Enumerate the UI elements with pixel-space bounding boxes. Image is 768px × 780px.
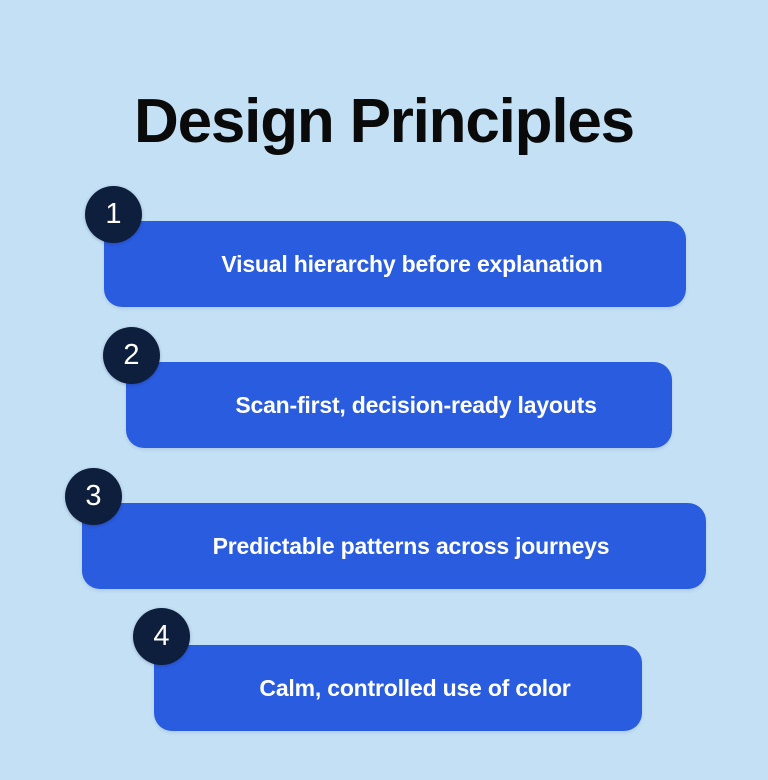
principle-number-badge-3: 3 — [65, 468, 122, 525]
design-principles-poster: Design Principles Visual hierarchy befor… — [0, 0, 768, 780]
principle-number-badge-4: 4 — [133, 608, 190, 665]
principle-label-3: Predictable patterns across journeys — [82, 503, 706, 589]
principle-label-4: Calm, controlled use of color — [154, 645, 642, 731]
principle-label-2: Scan-first, decision-ready layouts — [126, 362, 672, 448]
principle-label-1: Visual hierarchy before explanation — [104, 221, 686, 307]
principle-bar-3[interactable]: Predictable patterns across journeys — [82, 503, 706, 589]
principles-list: Visual hierarchy before explanation 1 Sc… — [0, 0, 768, 780]
principle-bar-2[interactable]: Scan-first, decision-ready layouts — [126, 362, 672, 448]
principle-bar-1[interactable]: Visual hierarchy before explanation — [104, 221, 686, 307]
principle-number-badge-2: 2 — [103, 327, 160, 384]
principle-bar-4[interactable]: Calm, controlled use of color — [154, 645, 642, 731]
principle-number-badge-1: 1 — [85, 186, 142, 243]
